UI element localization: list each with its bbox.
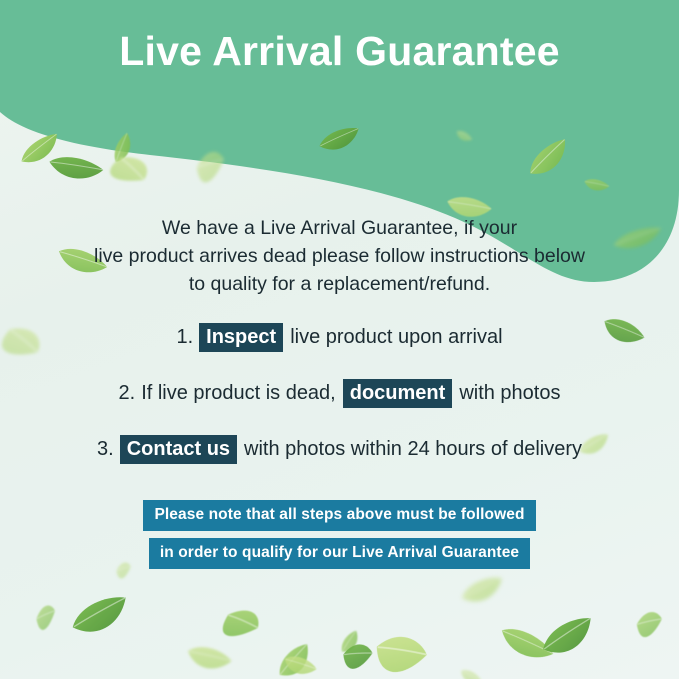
step-badge-document[interactable]: document [343, 379, 453, 408]
intro-line-3: to quality for a replacement/refund. [50, 270, 629, 298]
note-banner-line-2: in order to qualify for our Live Arrival… [149, 538, 530, 569]
step-badge-inspect[interactable]: Inspect [199, 323, 283, 352]
intro-paragraph: We have a Live Arrival Guarantee, if you… [50, 214, 629, 298]
live-arrival-guarantee-poster: Live Arrival Guarantee We have a Live Ar… [0, 0, 679, 679]
steps-list: 1. Inspect live product upon arrival 2. … [0, 322, 679, 490]
step-item-3: 3. Contact us with photos within 24 hour… [0, 434, 679, 464]
step-item-1: 1. Inspect live product upon arrival [0, 322, 679, 352]
step-lead-2: If live product is dead, [141, 380, 336, 406]
page-title: Live Arrival Guarantee [0, 28, 679, 75]
step-number-1: 1. [176, 324, 193, 350]
step-text-2: with photos [459, 380, 560, 406]
step-item-2: 2. If live product is dead, document wit… [0, 378, 679, 408]
step-badge-contact-us[interactable]: Contact us [120, 435, 237, 464]
note-banners: Please note that all steps above must be… [0, 500, 679, 576]
step-text-3: with photos within 24 hours of delivery [244, 436, 582, 462]
intro-line-1: We have a Live Arrival Guarantee, if you… [50, 214, 629, 242]
poster-content: Live Arrival Guarantee We have a Live Ar… [0, 0, 679, 679]
step-text-1: live product upon arrival [290, 324, 502, 350]
intro-line-2: live product arrives dead please follow … [50, 242, 629, 270]
step-number-2: 2. [119, 380, 136, 406]
step-number-3: 3. [97, 436, 114, 462]
note-banner-line-1: Please note that all steps above must be… [143, 500, 535, 531]
